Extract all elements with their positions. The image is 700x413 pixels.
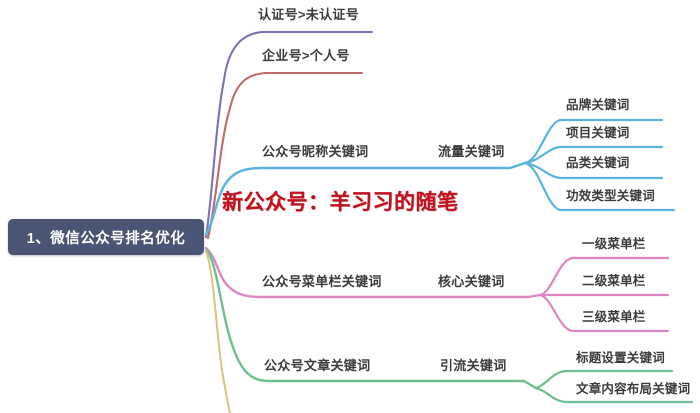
leaf-label-3-4[interactable]: 功效类型关键词 (566, 190, 655, 203)
leaf-label-5-1[interactable]: 标题设置关键词 (576, 352, 665, 365)
root-node-label: 1、微信公众号排名优化 (27, 227, 186, 248)
branch-label-4[interactable]: 公众号菜单栏关键词 (262, 275, 382, 288)
branch-label-5[interactable]: 公众号文章关键词 (264, 359, 370, 372)
leaf-label-5-2[interactable]: 文章内容布局关键词 (576, 383, 690, 396)
branch-sublabel-3[interactable]: 流量关键词 (438, 145, 505, 158)
leaf-label-4-3[interactable]: 三级菜单栏 (582, 311, 646, 324)
connector-branch-6 (206, 251, 230, 413)
watermark-text: 新公众号：羊习习的随笔 (222, 186, 459, 216)
branch-label-1[interactable]: 认证号>未认证号 (258, 8, 359, 21)
root-node[interactable]: 1、微信公众号排名优化 (8, 219, 204, 255)
leaf-label-3-2[interactable]: 项目关键词 (566, 127, 630, 140)
leaf-label-4-1[interactable]: 一级菜单栏 (582, 238, 646, 251)
branch-label-2[interactable]: 企业号>个人号 (262, 49, 350, 62)
connector-branch-4 (206, 248, 540, 297)
mind-map-canvas: 1、微信公众号排名优化 认证号>未认证号 企业号>个人号 公众号昵称关键词 流量… (0, 0, 700, 413)
leaf-label-4-2[interactable]: 二级菜单栏 (582, 275, 646, 288)
leaf-label-3-3[interactable]: 品类关键词 (566, 157, 630, 170)
branch-sublabel-5[interactable]: 引流关键词 (440, 359, 507, 372)
branch-label-3[interactable]: 公众号昵称关键词 (262, 145, 368, 158)
leaf-label-3-1[interactable]: 品牌关键词 (566, 99, 630, 112)
branch-sublabel-4[interactable]: 核心关键词 (438, 275, 505, 288)
